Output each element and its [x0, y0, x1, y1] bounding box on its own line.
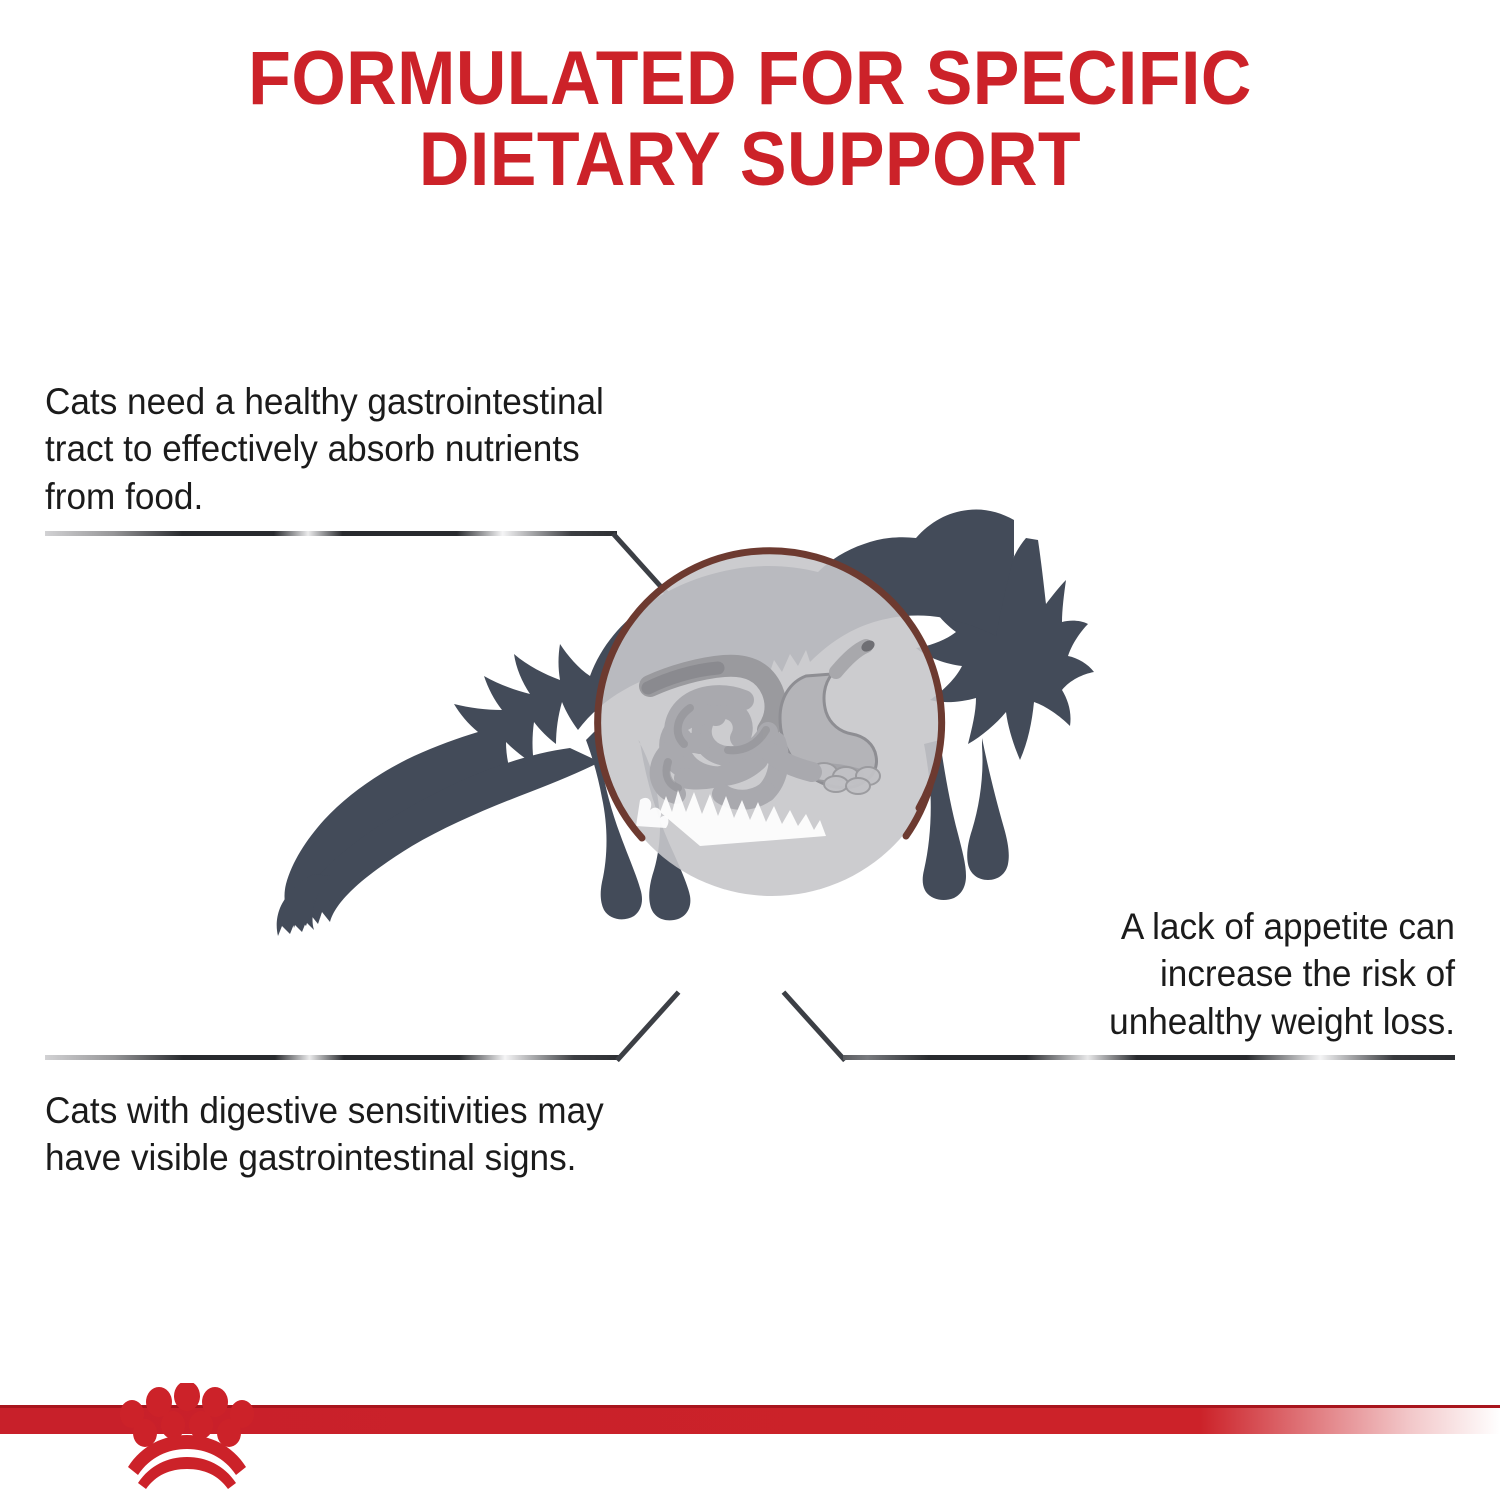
- cat-illustration: [0, 0, 1500, 1500]
- infographic-canvas: FORMULATED FOR SPECIFIC DIETARY SUPPORT: [0, 0, 1500, 1500]
- royal-canin-crown-logo-icon: [112, 1383, 262, 1493]
- callout-top-left: Cats need a healthy gastrointestinal tra…: [45, 378, 710, 520]
- callout-bottom-right: A lack of appetite can increase the risk…: [1009, 903, 1456, 1045]
- callout-bottom-left: Cats with digestive sensitivities may ha…: [45, 1087, 729, 1182]
